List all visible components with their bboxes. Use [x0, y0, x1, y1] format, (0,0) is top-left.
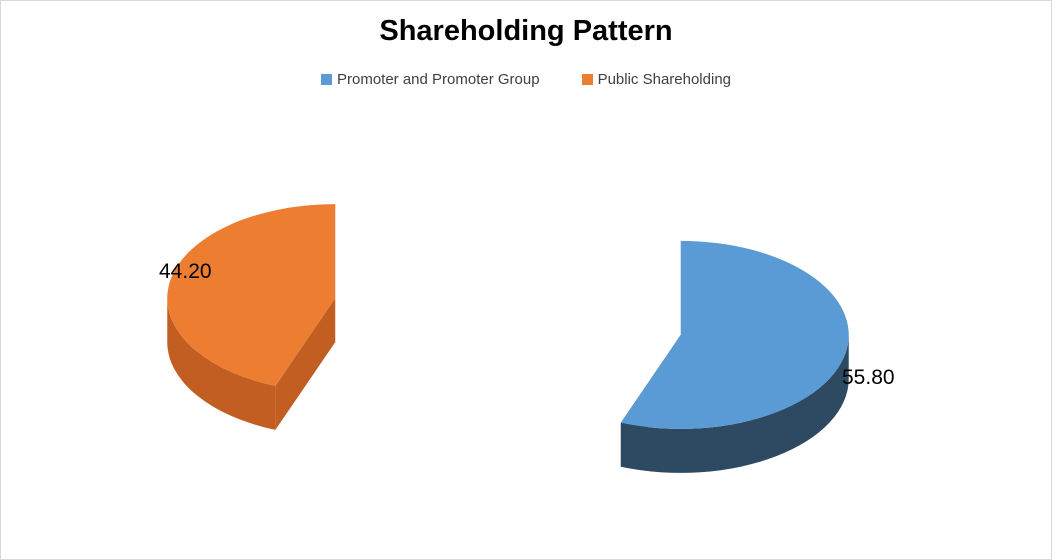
pie-slice-public [167, 204, 335, 430]
chart-container: Shareholding Pattern Promoter and Promot… [0, 0, 1052, 560]
pie-label-public: 44.20 [159, 260, 212, 284]
pie-label-promoter: 55.80 [842, 366, 895, 390]
pie-slice-promoter [621, 241, 849, 473]
